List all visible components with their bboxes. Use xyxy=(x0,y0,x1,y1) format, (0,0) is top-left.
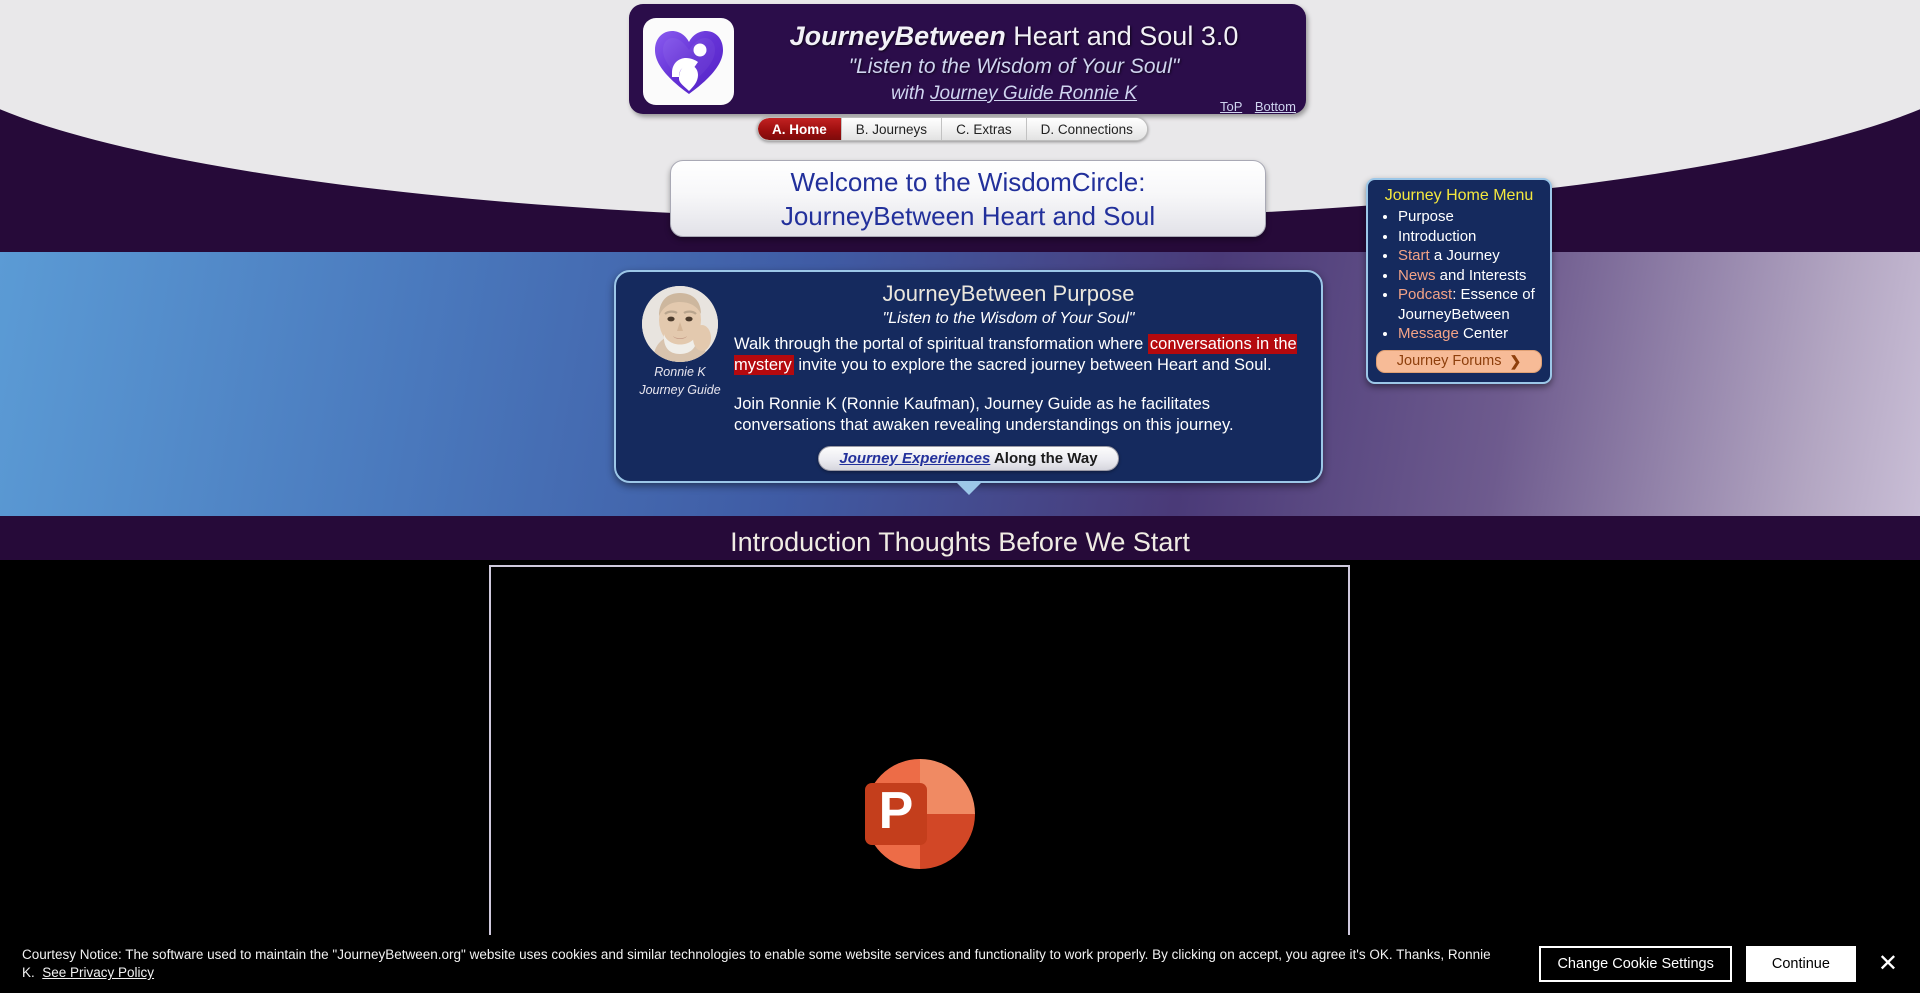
menu-item-start-a-journey[interactable]: Start a Journey xyxy=(1398,246,1542,266)
menu-item-introduction[interactable]: Introduction xyxy=(1398,227,1542,247)
jump-top-link[interactable]: ToP xyxy=(1220,99,1242,114)
chevron-right-icon: ❯ xyxy=(1510,353,1522,370)
home-menu-title: Journey Home Menu xyxy=(1376,185,1542,206)
menu-item-message-center[interactable]: Message Center xyxy=(1398,324,1542,344)
site-title-brand: JourneyBetween xyxy=(790,21,1006,51)
purpose-p1-a: Walk through the portal of spiritual tra… xyxy=(734,335,1148,353)
menu-item-start-accent: Start xyxy=(1398,247,1430,264)
menu-item-start-label: a Journey xyxy=(1430,247,1500,264)
welcome-banner: Welcome to the WisdomCircle: JourneyBetw… xyxy=(670,160,1266,237)
purpose-subtitle: "Listen to the Wisdom of Your Soul" xyxy=(710,308,1307,330)
site-tagline: "Listen to the Wisdom of Your Soul" xyxy=(736,53,1292,81)
introduction-heading: Introduction Thoughts Before We Start xyxy=(0,525,1920,559)
site-header: JourneyBetween Heart and Soul 3.0 "Liste… xyxy=(629,4,1306,114)
site-logo[interactable] xyxy=(643,18,734,105)
heart-figure-logo-icon xyxy=(652,27,726,97)
tab-d-connections[interactable]: D. Connections xyxy=(1027,118,1147,140)
site-title: JourneyBetween Heart and Soul 3.0 xyxy=(736,16,1292,53)
header-text-block: JourneyBetween Heart and Soul 3.0 "Liste… xyxy=(734,16,1292,107)
menu-item-news-and-interests[interactable]: News and Interests xyxy=(1398,266,1542,286)
introduction-video-frame[interactable]: P xyxy=(489,565,1350,975)
menu-item-news-accent: News xyxy=(1398,267,1436,284)
journey-experiences-button[interactable]: Journey Experiences Along the Way xyxy=(818,446,1118,471)
menu-item-introduction-label: Introduction xyxy=(1398,228,1476,245)
purpose-p1-b: invite you to explore the sacred journey… xyxy=(794,356,1272,374)
tab-b-journeys[interactable]: B. Journeys xyxy=(842,118,942,140)
cookie-notice-text: Courtesy Notice: The software used to ma… xyxy=(22,946,1529,982)
avatar-name: Ronnie K xyxy=(630,365,730,380)
purpose-button-row: Journey Experiences Along the Way xyxy=(616,446,1321,471)
journey-forums-button[interactable]: Journey Forums ❯ xyxy=(1376,350,1542,373)
tab-c-extras[interactable]: C. Extras xyxy=(942,118,1027,140)
avatar-role: Journey Guide xyxy=(630,383,730,398)
menu-item-message-label: Center xyxy=(1459,325,1508,342)
journey-experiences-rest: Along the Way xyxy=(990,450,1097,467)
guide-link[interactable]: Journey Guide Ronnie K xyxy=(930,83,1137,104)
site-title-rest: Heart and Soul 3.0 xyxy=(1006,21,1239,51)
change-cookie-settings-button[interactable]: Change Cookie Settings xyxy=(1539,946,1731,982)
avatar-column: Ronnie K Journey Guide xyxy=(630,286,730,436)
avatar-portrait-icon xyxy=(642,286,718,362)
purpose-text-column: Walk through the portal of spiritual tra… xyxy=(730,334,1307,436)
close-icon[interactable]: ✕ xyxy=(1870,952,1906,976)
purpose-card: JourneyBetween Purpose "Listen to the Wi… xyxy=(614,270,1323,483)
privacy-policy-link[interactable]: See Privacy Policy xyxy=(42,965,154,980)
menu-item-purpose-label: Purpose xyxy=(1398,208,1454,225)
powerpoint-icon: P xyxy=(857,751,983,877)
purpose-card-pointer xyxy=(955,481,983,495)
cookie-consent-bar: Courtesy Notice: The software used to ma… xyxy=(0,935,1920,993)
avatar xyxy=(642,286,718,362)
journey-experiences-link[interactable]: Journey Experiences xyxy=(839,450,990,467)
purpose-body: Ronnie K Journey Guide Walk through the … xyxy=(630,334,1307,436)
welcome-line-2: JourneyBetween Heart and Soul xyxy=(781,199,1155,233)
main-navigation: A. Home B. Journeys C. Extras D. Connect… xyxy=(757,117,1148,141)
menu-item-podcast[interactable]: Podcast: Essence of JourneyBetween xyxy=(1398,285,1542,324)
purpose-title: JourneyBetween Purpose xyxy=(710,280,1307,308)
with-prefix: with xyxy=(891,83,930,104)
jump-bottom-link[interactable]: Bottom xyxy=(1255,99,1296,114)
home-menu-list: Purpose Introduction Start a Journey New… xyxy=(1376,207,1542,344)
journey-forums-label: Journey Forums xyxy=(1397,353,1502,369)
menu-item-news-label: and Interests xyxy=(1436,267,1527,284)
site-guide-line: with Journey Guide Ronnie K xyxy=(736,81,1292,107)
purpose-paragraph-1: Walk through the portal of spiritual tra… xyxy=(734,334,1307,376)
tab-a-home[interactable]: A. Home xyxy=(758,118,842,140)
welcome-line-1: Welcome to the WisdomCircle: xyxy=(791,165,1146,199)
purpose-paragraph-2: Join Ronnie K (Ronnie Kaufman), Journey … xyxy=(734,394,1307,436)
menu-item-purpose[interactable]: Purpose xyxy=(1398,207,1542,227)
cookie-notice-body: Courtesy Notice: The software used to ma… xyxy=(22,947,1491,980)
continue-button[interactable]: Continue xyxy=(1746,946,1856,982)
menu-item-message-accent: Message xyxy=(1398,325,1459,342)
svg-text:P: P xyxy=(878,782,913,840)
jump-links: ToP Bottom xyxy=(1211,99,1296,114)
menu-item-podcast-accent: Podcast xyxy=(1398,286,1452,303)
journey-home-menu: Journey Home Menu Purpose Introduction S… xyxy=(1366,178,1552,384)
page-root: JourneyBetween Heart and Soul 3.0 "Liste… xyxy=(0,0,1920,993)
cookie-actions: Change Cookie Settings Continue ✕ xyxy=(1539,946,1906,982)
